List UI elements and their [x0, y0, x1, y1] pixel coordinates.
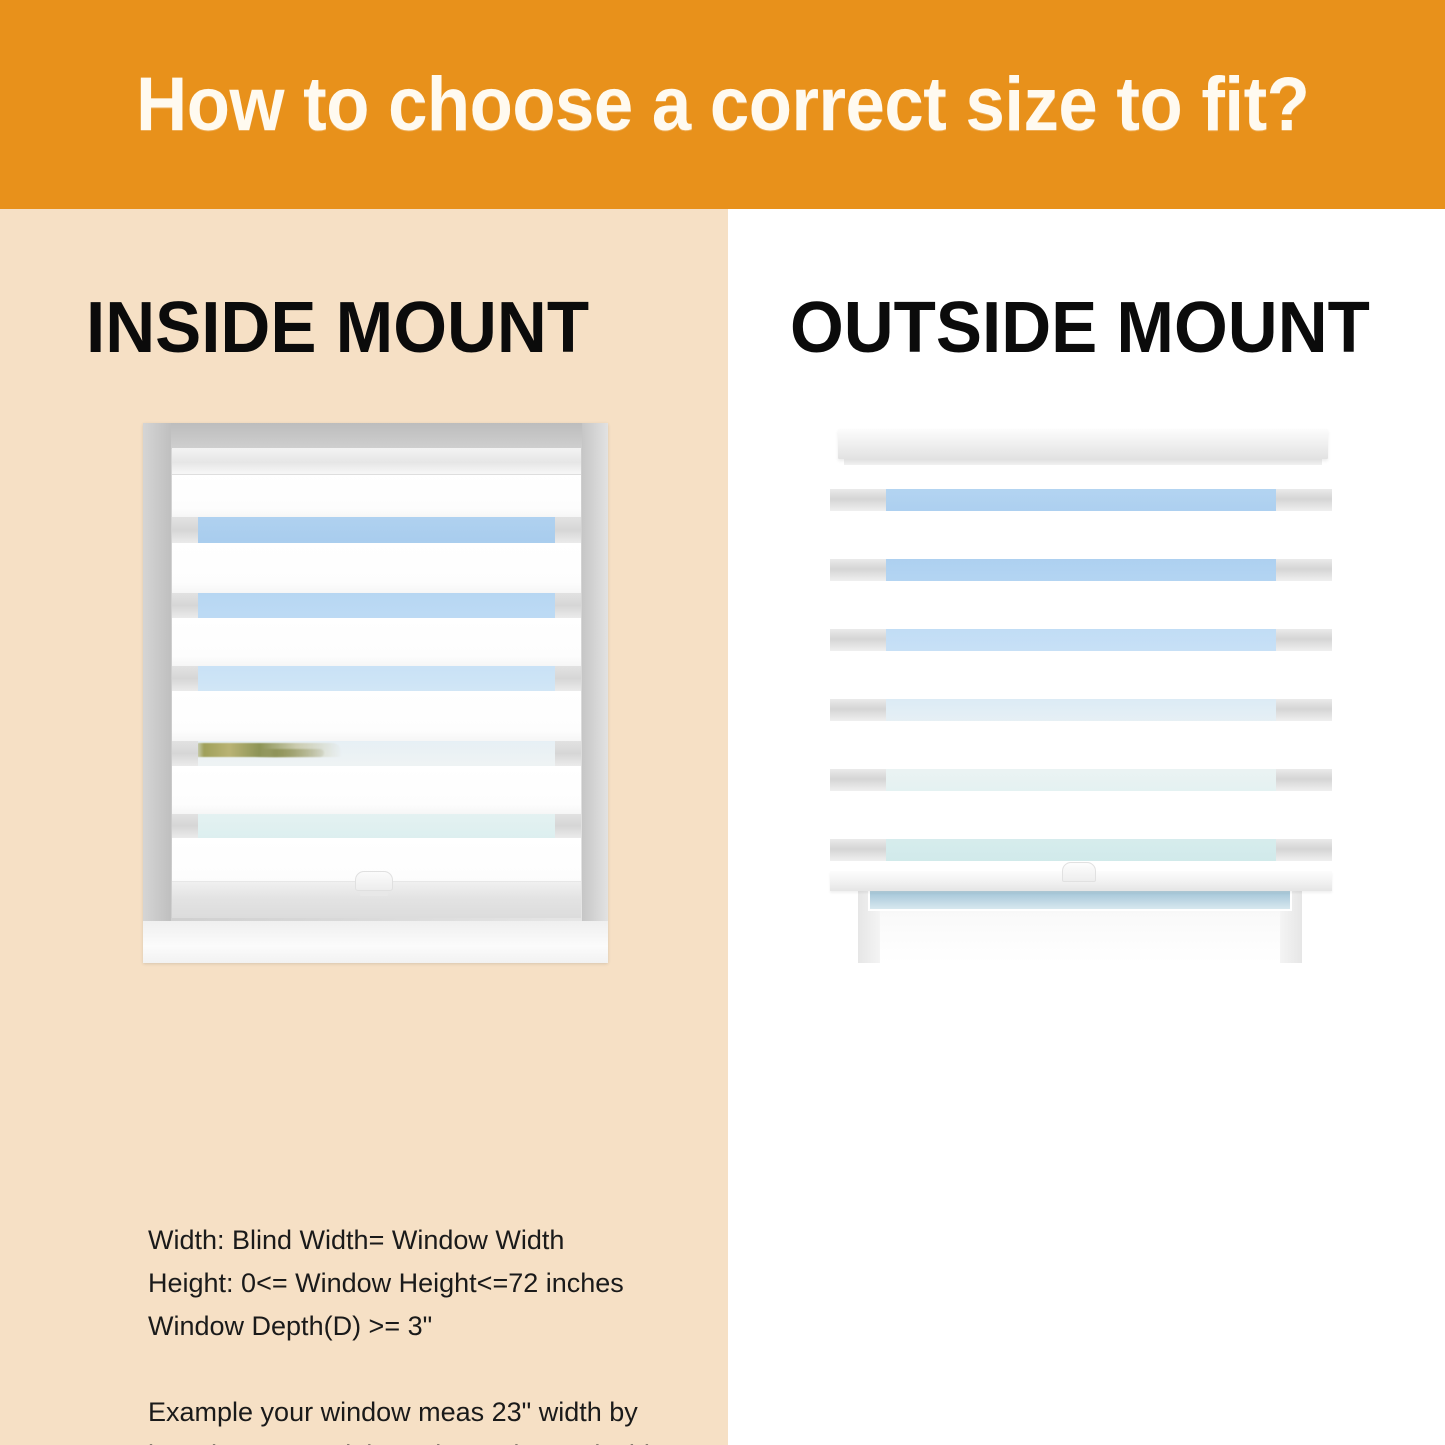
inside-mount-text: Width: Blind Width= Window Width Height:… — [148, 1219, 693, 1445]
vane-cap-right — [1276, 699, 1332, 721]
panel-inside-mount: INSIDE MOUNT — [0, 209, 728, 1445]
vane-cap-right — [1276, 559, 1332, 581]
blind-vane — [858, 479, 1302, 489]
blind-headrail — [172, 448, 581, 475]
blind-vane — [172, 543, 581, 593]
blind-vane — [858, 651, 1302, 699]
blind-vane — [172, 618, 581, 666]
vane-cap-left — [830, 839, 886, 861]
vane-cap-left — [830, 489, 886, 511]
vane-cap-left — [172, 593, 198, 618]
panel-outside-mount: OUTSIDE MOUNT — [728, 209, 1445, 1445]
vane-cap-left — [172, 517, 198, 543]
header-banner: How to choose a correct size to fit? — [0, 0, 1445, 209]
vane-cap-right — [555, 814, 581, 838]
outside-mount-heading: OUTSIDE MOUNT — [790, 292, 1370, 364]
blind-vane — [172, 766, 581, 814]
vane-cap-left — [830, 699, 886, 721]
vane-cap-left — [830, 559, 886, 581]
blind-vane — [858, 511, 1302, 559]
inside-example-intro: Example your window meas 23" width by le… — [148, 1391, 693, 1445]
outside-mount-window-illustration — [830, 419, 1332, 959]
inside-mount-heading: INSIDE MOUNT — [86, 292, 589, 364]
vane-cap-right — [555, 517, 581, 543]
vane-cap-left — [172, 666, 198, 691]
blind-vane — [858, 581, 1302, 629]
inside-spec-height: Height: 0<= Window Height<=72 inches — [148, 1262, 693, 1305]
outdoor-scene — [172, 473, 581, 888]
blind-vane — [172, 691, 581, 741]
vane-cap-left — [172, 814, 198, 838]
blind-vane — [858, 721, 1302, 769]
vane-cap-left — [830, 629, 886, 651]
panels-container: INSIDE MOUNT — [0, 209, 1445, 1445]
island-shape-secondary-icon — [254, 749, 324, 757]
blind-vane — [172, 473, 581, 517]
vane-cap-right — [555, 666, 581, 691]
inside-mount-window-illustration — [143, 423, 608, 963]
blind-pull-grip[interactable] — [355, 871, 393, 891]
window-frame-left — [143, 423, 171, 963]
vane-cap-left — [172, 741, 198, 766]
inside-spec-width: Width: Blind Width= Window Width — [148, 1219, 693, 1262]
window-frame-right — [582, 423, 608, 963]
vane-cap-right — [555, 593, 581, 618]
text-spacer — [148, 1348, 693, 1391]
blind-vane — [858, 791, 1302, 839]
vane-cap-left — [830, 769, 886, 791]
vane-cap-right — [1276, 489, 1332, 511]
vane-cap-right — [555, 741, 581, 766]
blind-pull-grip[interactable] — [1062, 862, 1096, 882]
inside-spec-depth: Window Depth(D) >= 3" — [148, 1305, 693, 1348]
vane-cap-right — [1276, 629, 1332, 651]
page-title: How to choose a correct size to fit? — [136, 67, 1309, 143]
vane-cap-right — [1276, 769, 1332, 791]
window-sill — [143, 921, 608, 963]
blind-headrail — [838, 429, 1328, 459]
window-frame-top — [143, 423, 608, 449]
window-opening — [172, 448, 581, 918]
infographic-page: How to choose a correct size to fit? INS… — [0, 0, 1445, 1445]
vane-cap-right — [1276, 839, 1332, 861]
